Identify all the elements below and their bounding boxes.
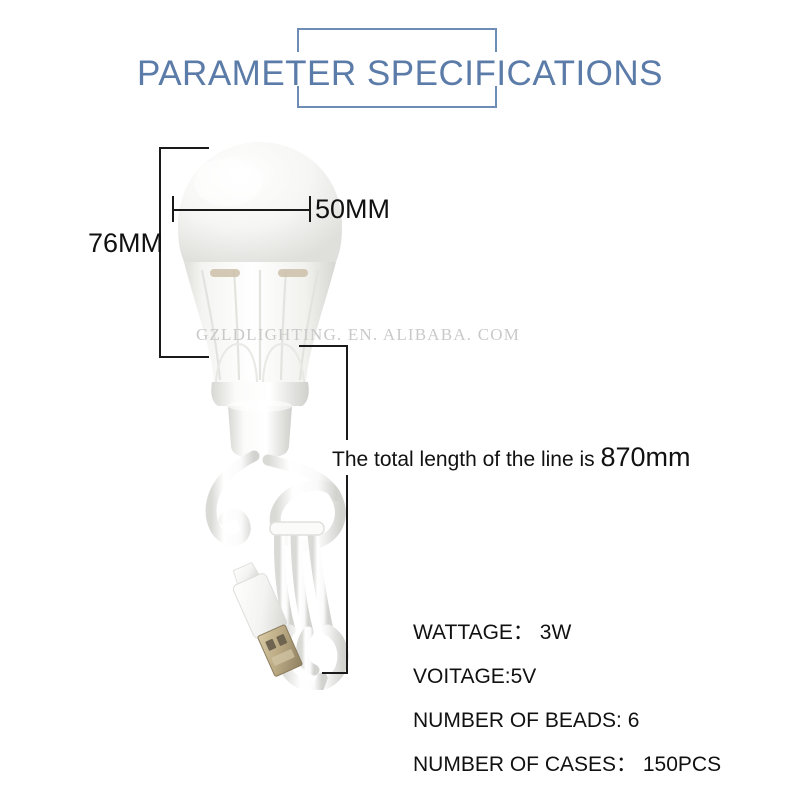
spec-number-of-beads: NUMBER OF BEADS: 6 [413,710,783,732]
height-dimension-cap-bottom [159,356,209,358]
spec-number-of-cases: NUMBER OF CASES： 150PCS [413,754,783,776]
cable-length-dimension-cap-bottom [322,672,348,674]
height-dimension-cap-top [159,147,209,149]
specification-list: WATTAGE： 3W VOITAGE:5V NUMBER OF BEADS: … [413,622,783,798]
height-dimension-label: 76MM [88,228,163,259]
cable-length-prefix: The total length of the line is [332,448,601,471]
cable-length-value: 870mm [601,442,691,472]
width-dimension-cap-left [172,196,174,222]
width-dimension-line [172,209,311,211]
bulb-base-highlight [228,400,292,412]
width-dimension-label: 50MM [315,194,390,225]
bulb-dome-highlight [194,158,262,206]
spec-wattage: WATTAGE： 3W [413,622,783,644]
page-title: PARAMETER SPECIFICATIONS [0,54,800,94]
bulb-base [228,406,292,458]
cable-length-label: The total length of the line is 870mm [330,440,691,475]
cable-length-dimension-line [346,345,348,674]
width-dimension-cap-right [309,196,311,222]
spec-voltage: VOITAGE:5V [413,666,783,688]
cable-length-dimension-cap-top [299,345,348,347]
cable-twist-tie [270,522,324,535]
title-block: PARAMETER SPECIFICATIONS [0,28,800,116]
spec-sheet-page: PARAMETER SPECIFICATIONS [0,0,800,800]
